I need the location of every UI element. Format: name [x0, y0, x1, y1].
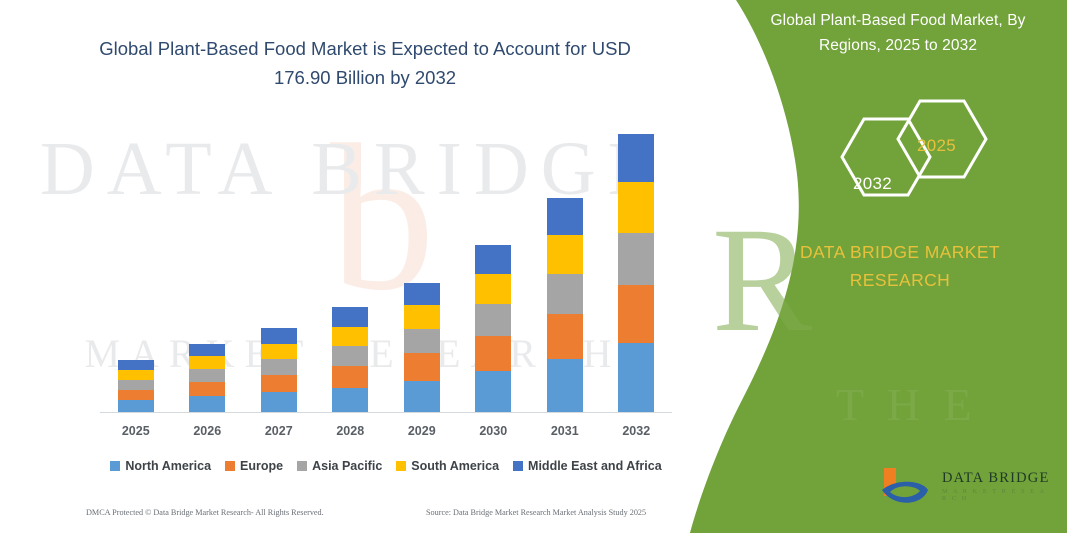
- legend-label: South America: [411, 459, 499, 473]
- svg-text:T H E: T H E: [836, 379, 978, 430]
- segment-asia-pacific: [475, 304, 511, 335]
- legend-item-north-america[interactable]: North America: [110, 459, 211, 473]
- bar-2032: [618, 134, 654, 412]
- x-label-2032: 2032: [600, 424, 672, 438]
- legend-item-europe[interactable]: Europe: [225, 459, 283, 473]
- segment-europe: [618, 285, 654, 344]
- bar-2026: [189, 344, 225, 412]
- segment-europe: [332, 366, 368, 388]
- segment-europe: [261, 375, 297, 393]
- segment-middle-east-and-africa: [618, 134, 654, 182]
- bar-2031: [547, 198, 583, 412]
- segment-asia-pacific: [332, 346, 368, 366]
- x-label-2025: 2025: [100, 424, 172, 438]
- legend-item-south-america[interactable]: South America: [396, 459, 499, 473]
- segment-asia-pacific: [118, 380, 154, 390]
- x-axis-line: [100, 412, 672, 413]
- segment-middle-east-and-africa: [189, 344, 225, 357]
- legend-swatch: [110, 461, 120, 471]
- legend-swatch: [396, 461, 406, 471]
- logo-wordmark: DATA BRIDGE: [942, 470, 1050, 487]
- segment-middle-east-and-africa: [547, 198, 583, 235]
- legend-swatch: [225, 461, 235, 471]
- segment-asia-pacific: [547, 274, 583, 314]
- segment-north-america: [261, 392, 297, 412]
- legend-swatch: [513, 461, 523, 471]
- x-label-2031: 2031: [529, 424, 601, 438]
- chart-title: Global Plant-Based Food Market is Expect…: [70, 34, 660, 92]
- segment-south-america: [189, 356, 225, 369]
- x-label-2030: 2030: [457, 424, 529, 438]
- segment-north-america: [404, 381, 440, 412]
- segment-asia-pacific: [618, 233, 654, 285]
- bar-2027: [261, 328, 297, 412]
- segment-middle-east-and-africa: [332, 307, 368, 327]
- segment-north-america: [475, 371, 511, 412]
- segment-north-america: [547, 359, 583, 412]
- x-label-2029: 2029: [386, 424, 458, 438]
- segment-europe: [118, 390, 154, 401]
- segment-europe: [547, 314, 583, 359]
- legend-label: Middle East and Africa: [528, 459, 662, 473]
- footer-source: Source: Data Bridge Market Research Mark…: [426, 508, 646, 517]
- segment-south-america: [261, 344, 297, 360]
- legend-label: North America: [125, 459, 211, 473]
- footer: DMCA Protected © Data Bridge Market Rese…: [0, 508, 706, 526]
- brand-name: DATA BRIDGE MARKET RESEARCH: [770, 238, 1030, 294]
- segment-middle-east-and-africa: [404, 283, 440, 306]
- segment-south-america: [618, 182, 654, 233]
- x-label-2027: 2027: [243, 424, 315, 438]
- bar-2030: [475, 245, 511, 412]
- legend-label: Europe: [240, 459, 283, 473]
- segment-asia-pacific: [404, 329, 440, 353]
- brand-line-1: DATA BRIDGE MARKET: [770, 238, 1030, 266]
- segment-middle-east-and-africa: [261, 328, 297, 344]
- legend-item-asia-pacific[interactable]: Asia Pacific: [297, 459, 382, 473]
- bar-2025: [118, 360, 154, 412]
- segment-north-america: [189, 396, 225, 412]
- x-axis-labels: 20252026202720282029203020312032: [100, 424, 672, 446]
- segment-north-america: [332, 388, 368, 412]
- segment-south-america: [404, 305, 440, 328]
- segment-middle-east-and-africa: [118, 360, 154, 370]
- stacked-bar-group: [100, 120, 672, 412]
- segment-middle-east-and-africa: [475, 245, 511, 274]
- panel-title: Global Plant-Based Food Market, By Regio…: [740, 8, 1056, 58]
- infographic-canvas: R T H E Global Plant-Based Food Market, …: [0, 0, 1067, 533]
- hexagon-2025-label: 2025: [917, 136, 956, 156]
- x-label-2028: 2028: [314, 424, 386, 438]
- logo-tagline: M A R K E T R E S E A R C H: [942, 488, 1053, 502]
- bar-2029: [404, 283, 440, 412]
- segment-north-america: [618, 343, 654, 412]
- chart-legend: North AmericaEuropeAsia PacificSouth Ame…: [100, 456, 672, 476]
- segment-asia-pacific: [261, 359, 297, 375]
- legend-label: Asia Pacific: [312, 459, 382, 473]
- hexagon-2032-label: 2032: [853, 174, 892, 194]
- segment-south-america: [332, 327, 368, 347]
- hexagon-group: 2025 2032: [812, 92, 1012, 222]
- segment-south-america: [118, 370, 154, 380]
- bar-2028: [332, 307, 368, 412]
- segment-europe: [404, 353, 440, 380]
- segment-europe: [189, 382, 225, 397]
- brand-line-2: RESEARCH: [770, 266, 1030, 294]
- segment-south-america: [547, 235, 583, 274]
- legend-item-middle-east-and-africa[interactable]: Middle East and Africa: [513, 459, 662, 473]
- segment-europe: [475, 336, 511, 371]
- data-bridge-logo: DATA BRIDGE M A R K E T R E S E A R C H: [878, 466, 1053, 512]
- segment-south-america: [475, 274, 511, 304]
- segment-north-america: [118, 400, 154, 412]
- segment-asia-pacific: [189, 369, 225, 382]
- x-label-2026: 2026: [171, 424, 243, 438]
- legend-swatch: [297, 461, 307, 471]
- footer-copyright: DMCA Protected © Data Bridge Market Rese…: [86, 508, 324, 517]
